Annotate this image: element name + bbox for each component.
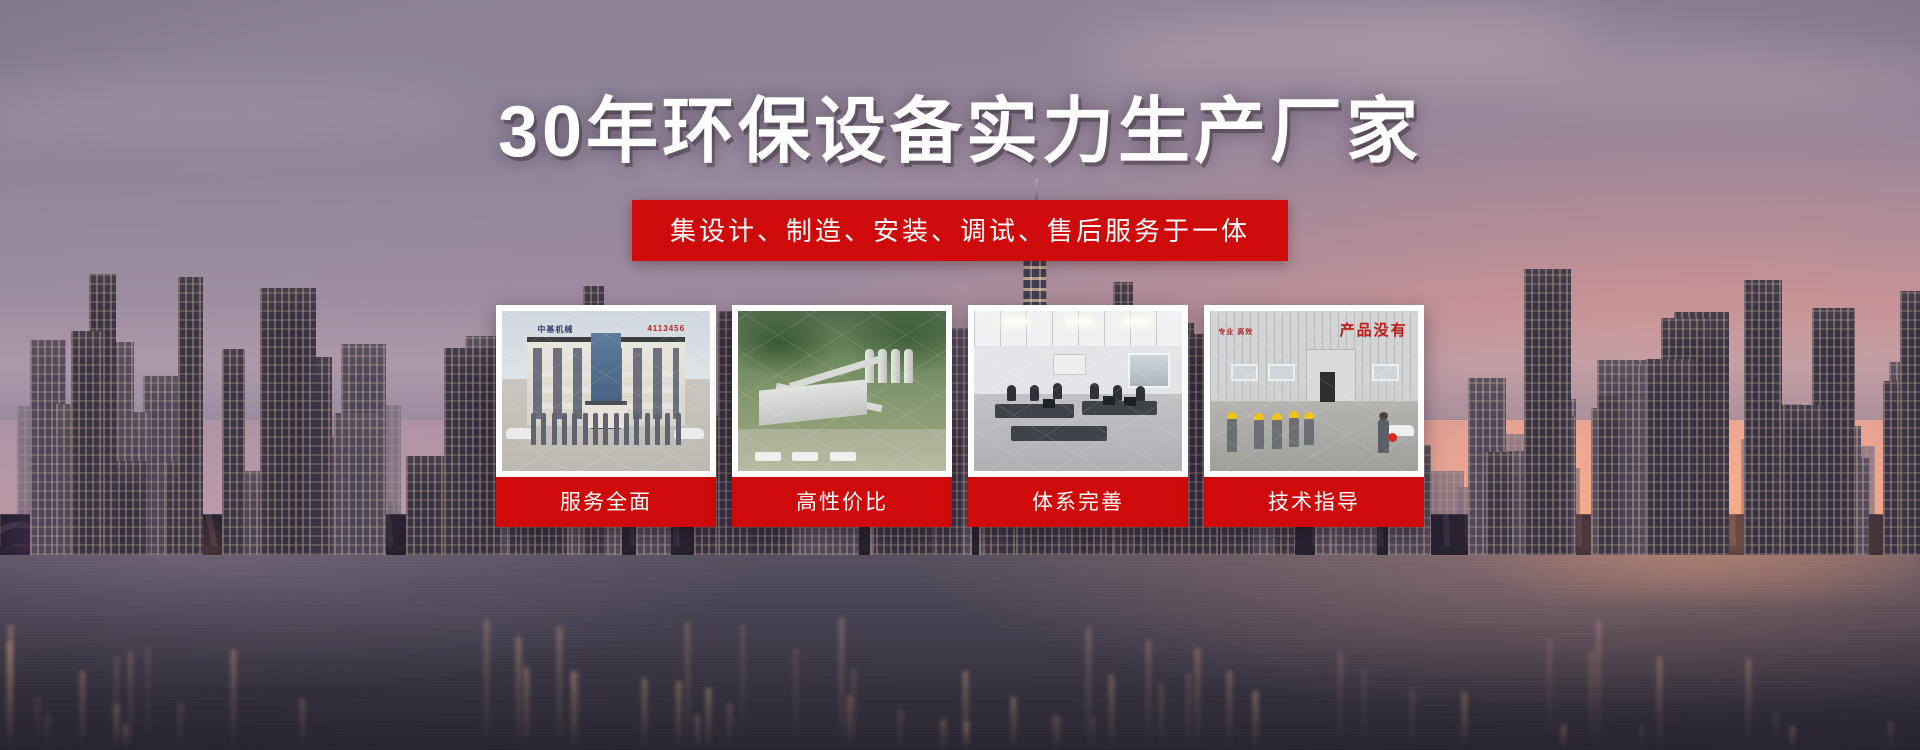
card-image-factory-workers: 专业 高效 产品没有	[1210, 311, 1418, 471]
office-worker	[1030, 385, 1039, 401]
computer-monitor	[1103, 396, 1115, 405]
office-worker	[1090, 383, 1099, 399]
wall-board	[1053, 354, 1086, 375]
computer-monitor	[1124, 397, 1136, 406]
ceiling-light	[1124, 319, 1150, 324]
worker-with-hardhat	[1254, 419, 1264, 449]
worker-with-hardhat	[1272, 419, 1282, 449]
factory-side-door	[1320, 372, 1335, 402]
feature-card[interactable]: 高性价比	[732, 305, 952, 527]
office-window	[1128, 353, 1170, 388]
building-sign-text: 中基机械	[537, 324, 573, 335]
card-image-office-interior	[974, 311, 1182, 471]
factory-window	[1231, 364, 1258, 382]
truck	[755, 452, 781, 461]
office-desk	[995, 404, 1074, 418]
office-worker	[1136, 386, 1145, 402]
card-caption: 体系完善	[968, 477, 1188, 527]
card-image-aerial-plant	[738, 311, 946, 471]
office-desk	[1082, 401, 1157, 415]
feature-card[interactable]: 中基机械 4113456 服务全面	[496, 305, 716, 527]
feature-card[interactable]: 专业 高效 产品没有	[1204, 305, 1424, 527]
banner-content: 30年环保设备实力生产厂家 集设计、制造、安装、调试、售后服务于一体 中基机械 …	[0, 0, 1920, 750]
computer-monitor	[1043, 399, 1055, 408]
ceiling-light	[1003, 319, 1029, 324]
ceiling-light	[1066, 319, 1092, 324]
office-worker	[1007, 385, 1016, 401]
office-worker	[1053, 383, 1062, 399]
truck	[830, 452, 856, 461]
factory-window	[1372, 364, 1399, 382]
worker-with-hardhat	[1304, 418, 1314, 445]
banner-subtitle-bar: 集设计、制造、安装、调试、售后服务于一体	[632, 200, 1288, 261]
plant-yard	[738, 429, 946, 471]
factory-window	[1268, 364, 1295, 382]
worker-with-hardhat	[1227, 418, 1237, 452]
office-desk	[1011, 426, 1107, 440]
office-ceiling	[974, 311, 1182, 346]
feature-card[interactable]: 体系完善	[968, 305, 1188, 527]
factory-banner-text: 产品没有	[1340, 319, 1408, 340]
card-caption: 高性价比	[732, 477, 952, 527]
banner-headline: 30年环保设备实力生产厂家	[498, 96, 1422, 168]
truck	[792, 452, 818, 461]
feature-card-row: 中基机械 4113456 服务全面	[496, 305, 1424, 527]
factory-slogan-text: 专业 高效	[1218, 327, 1253, 337]
staff-row	[531, 413, 681, 445]
hero-banner: 30年环保设备实力生产厂家 集设计、制造、安装、调试、售后服务于一体 中基机械 …	[0, 0, 1920, 750]
storage-silos	[865, 349, 913, 383]
card-caption: 技术指导	[1204, 477, 1424, 527]
card-image-office-building: 中基机械 4113456	[502, 311, 710, 471]
building-phone-text: 4113456	[647, 324, 685, 333]
card-caption: 服务全面	[496, 477, 716, 527]
worker-with-hardhat	[1289, 417, 1299, 447]
